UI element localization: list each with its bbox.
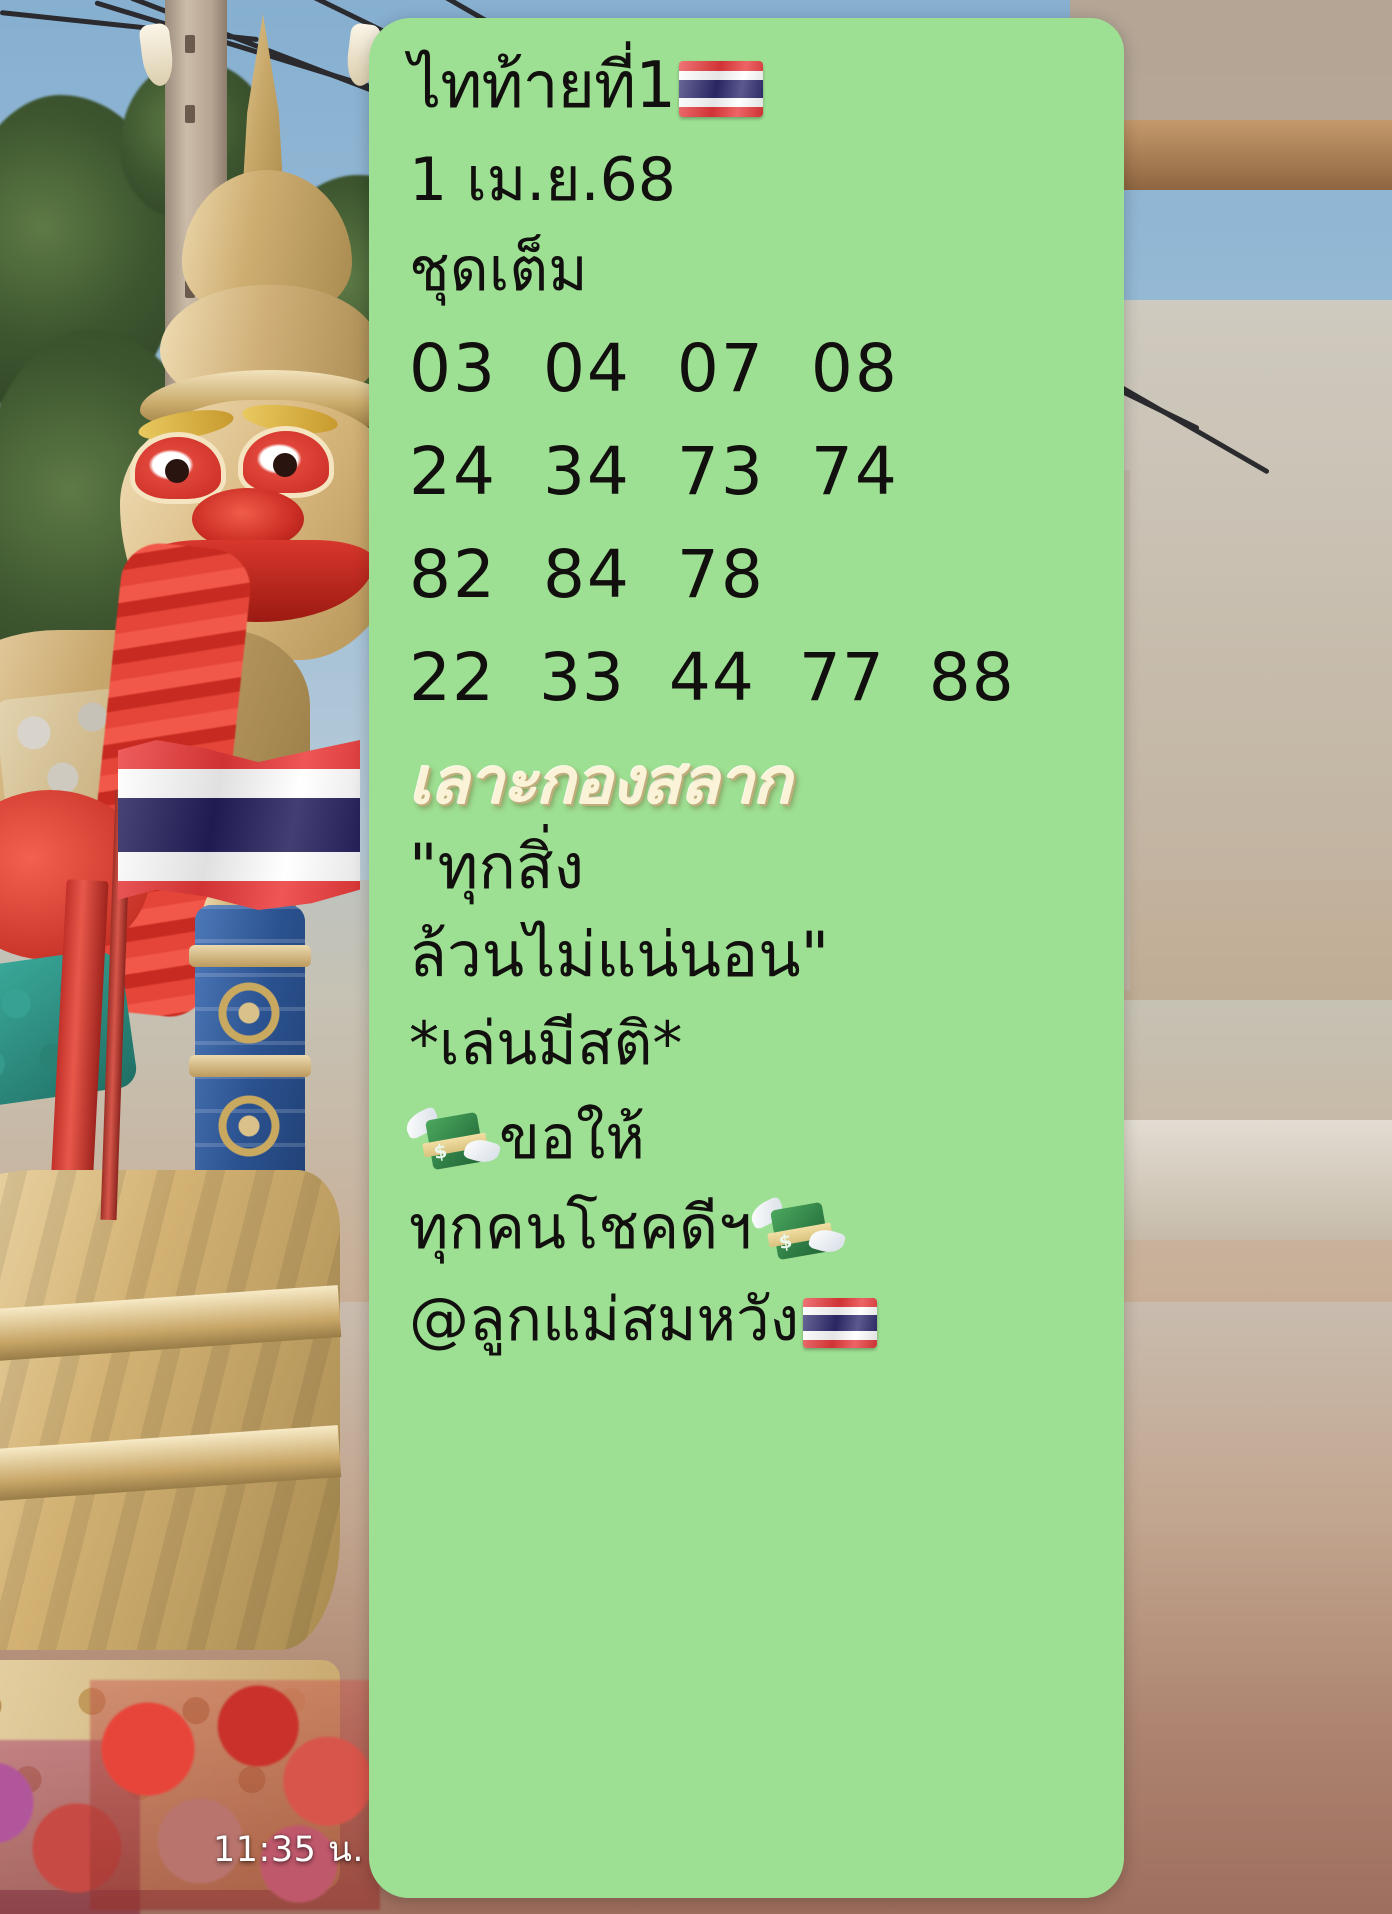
number-row: 24 34 73 74	[409, 433, 1110, 510]
thai-flag-photo	[118, 740, 360, 910]
statue-eye	[130, 432, 226, 504]
money-with-wings-icon: $	[409, 1110, 495, 1170]
number-row: 22 33 44 77 88	[409, 639, 1110, 716]
number-row: 82 84 78	[409, 536, 1110, 613]
money-with-wings-icon: $	[754, 1200, 840, 1260]
screenshot-root: 11:35 น. ไทท้ายที่1 1 เม.ย.68 ชุดเต็ม 03…	[0, 0, 1392, 1914]
yaksha-statue	[0, 0, 400, 1914]
wish-line-1: ขอให้	[499, 1103, 645, 1173]
wish-line-2: ทุกคนโชคดีฯ	[409, 1193, 752, 1263]
card-title-row: ไทท้ายที่1	[409, 54, 1110, 118]
quote-line-2: ล้วนไม่แน่นอน"	[409, 924, 1110, 986]
account-handle: @ลูกแม่สมหวัง	[409, 1285, 799, 1355]
building-right	[1120, 300, 1392, 1000]
statue-pedestal	[0, 1170, 340, 1650]
thai-flag-icon	[679, 61, 763, 117]
mindful-note: *เล่นมีสติ*	[409, 1014, 1110, 1074]
quote-line-1: "ทุกสิ่ง	[409, 836, 1110, 898]
awning-lower	[1080, 1120, 1392, 1240]
wish-line-1-row: $ ขอให้	[409, 1108, 1110, 1170]
draw-date: 1 เม.ย.68	[409, 150, 1110, 210]
handle-row: @ลูกแม่สมหวัง	[409, 1290, 1110, 1350]
card-title: ไทท้ายที่1	[409, 49, 675, 123]
number-row: 03 04 07 08	[409, 330, 1110, 407]
lottery-info-card: ไทท้ายที่1 1 เม.ย.68 ชุดเต็ม 03 04 07 08…	[369, 18, 1124, 1898]
thai-flag-icon	[803, 1298, 877, 1348]
timestamp: 11:35 น.	[213, 1822, 364, 1877]
highlight-headline: เลาะกองสลาก	[409, 750, 1110, 814]
statue-fang	[138, 22, 175, 87]
wish-line-2-row: ทุกคนโชคดีฯ $	[409, 1198, 1110, 1260]
set-label: ชุดเต็ม	[409, 240, 1110, 300]
